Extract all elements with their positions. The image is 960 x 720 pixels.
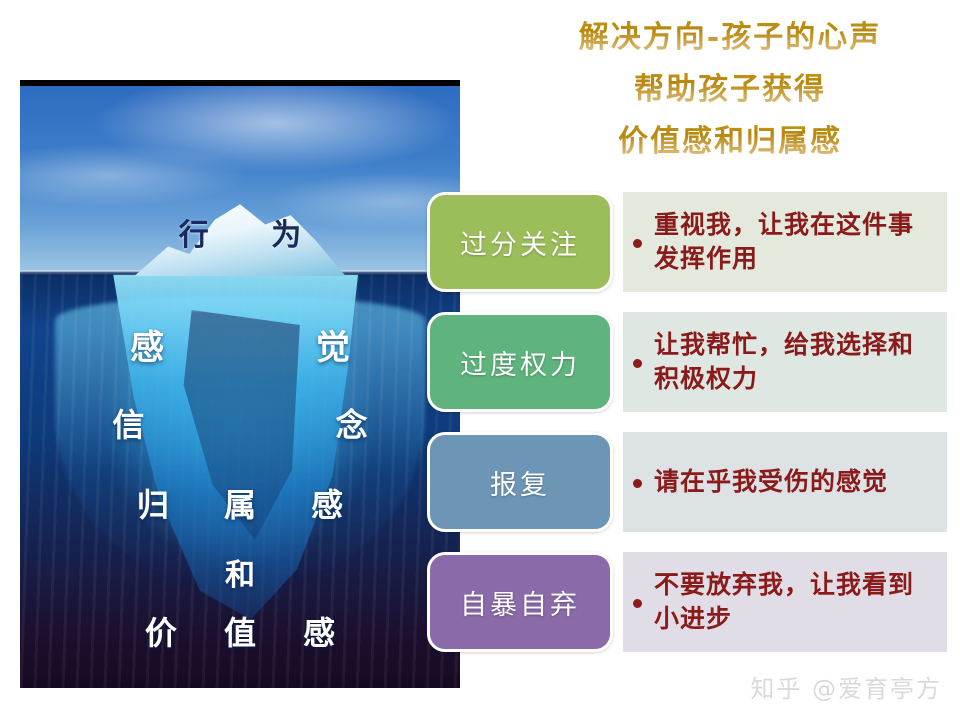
behavior-row: 自暴自弃 不要放弃我，让我看到小进步 xyxy=(427,552,947,652)
behavior-message-panel: 让我帮忙，给我选择和积极权力 xyxy=(623,312,947,412)
iceberg-label-belief: 信 念 xyxy=(20,400,460,446)
behavior-chip-revenge[interactable]: 报复 xyxy=(427,432,613,532)
chip-label: 自暴自弃 xyxy=(460,583,580,622)
behavior-row: 过分关注 重视我，让我在这件事发挥作用 xyxy=(427,192,947,292)
behavior-message-panel: 重视我，让我在这件事发挥作用 xyxy=(623,192,947,292)
behavior-message: 不要放弃我，让我看到小进步 xyxy=(654,568,933,636)
title-line-2: 帮助孩子获得 xyxy=(500,64,960,116)
iceberg-label-and: 和 xyxy=(20,550,460,594)
bullet-icon xyxy=(633,359,642,368)
bullet-icon xyxy=(633,239,642,248)
iceberg-label-feeling: 感 觉 xyxy=(20,320,460,369)
behavior-message: 请在乎我受伤的感觉 xyxy=(654,465,888,499)
iceberg-label-value: 价 值 感 xyxy=(20,608,460,654)
page-title: 解决方向-孩子的心声 帮助孩子获得 价值感和归属感 xyxy=(500,12,960,168)
behavior-message-panel: 不要放弃我，让我看到小进步 xyxy=(623,552,947,652)
bullet-icon xyxy=(633,599,642,608)
chip-label: 报复 xyxy=(490,463,550,502)
behavior-message: 让我帮忙，给我选择和积极权力 xyxy=(654,328,933,396)
behavior-goal-list: 过分关注 重视我，让我在这件事发挥作用 过度权力 让我帮忙，给我选择和积极权力 … xyxy=(427,192,947,672)
title-line-1: 解决方向-孩子的心声 xyxy=(500,12,960,64)
bullet-icon xyxy=(633,479,642,488)
watermark: 知乎 @爱育亭方 xyxy=(750,669,942,704)
behavior-row: 过度权力 让我帮忙，给我选择和积极权力 xyxy=(427,312,947,412)
iceberg-label-belonging: 归 属 感 xyxy=(20,480,460,526)
title-line-3: 价值感和归属感 xyxy=(500,116,960,168)
behavior-chip-inadequacy[interactable]: 自暴自弃 xyxy=(427,552,613,652)
behavior-chip-attention[interactable]: 过分关注 xyxy=(427,192,613,292)
behavior-message-panel: 请在乎我受伤的感觉 xyxy=(623,432,947,532)
behavior-row: 报复 请在乎我受伤的感觉 xyxy=(427,432,947,532)
behavior-message: 重视我，让我在这件事发挥作用 xyxy=(654,208,933,276)
chip-label: 过度权力 xyxy=(460,343,580,382)
chip-label: 过分关注 xyxy=(460,223,580,262)
behavior-chip-power[interactable]: 过度权力 xyxy=(427,312,613,412)
iceberg-label-behavior: 行 为 xyxy=(20,210,460,254)
iceberg-image: 行 为 感 觉 信 念 归 属 感 和 价 值 感 xyxy=(20,80,460,688)
